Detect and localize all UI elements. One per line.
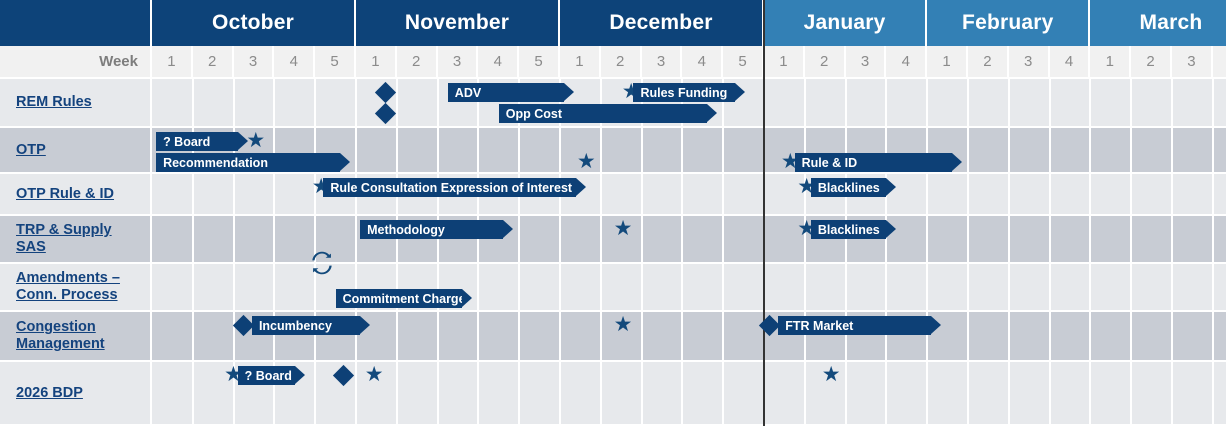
week-gridline (437, 79, 439, 426)
week-gridline (1212, 79, 1214, 426)
row-label-text: OTP (16, 142, 46, 159)
week-gridline (722, 79, 724, 426)
week-header-cell: 5 (519, 46, 560, 79)
star-milestone-icon[interactable]: ★ (576, 152, 596, 172)
star-milestone-icon[interactable]: ★ (821, 365, 841, 385)
row-label-congestion-management[interactable]: Congestion Management (0, 312, 152, 362)
row-label-rem-rules[interactable]: REM Rules (0, 79, 152, 128)
task-bar[interactable]: Methodology (360, 220, 503, 239)
star-milestone-icon[interactable]: ★ (613, 315, 633, 335)
week-header-cell: 4 (478, 46, 519, 79)
week-gridline (518, 79, 520, 426)
month-header-february: February (927, 0, 1090, 46)
refresh-cycle-icon[interactable] (309, 250, 335, 276)
week-gridline (1049, 79, 1051, 426)
star-milestone-icon[interactable]: ★ (364, 365, 384, 385)
month-header-december: December (560, 0, 764, 46)
week-header-cell: 1 (560, 46, 601, 79)
task-bar[interactable]: Rule & ID (795, 153, 952, 172)
row-label-2026-bdp[interactable]: 2026 BDP (0, 362, 152, 426)
week-header-cell: 1 (356, 46, 397, 79)
row-label-otp[interactable]: OTP (0, 128, 152, 174)
week-header-cell: 2 (397, 46, 438, 79)
week-gridline (1008, 79, 1010, 426)
row-label-text: OTP Rule & ID (16, 186, 114, 203)
today-divider-line (763, 0, 765, 426)
week-header-cell: 3 (438, 46, 479, 79)
week-row-label: Week (0, 46, 152, 79)
week-gridline (967, 79, 969, 426)
row-label-amendments-conn-process[interactable]: Amendments – Conn. Process (0, 264, 152, 312)
week-header-cell: 2 (193, 46, 234, 79)
week-header-cell: 1 (764, 46, 805, 79)
month-header-january: January (764, 0, 927, 46)
week-gridline (559, 79, 561, 426)
week-header-cell: 2 (968, 46, 1009, 79)
gantt-chart: October12345November12345December12345Ja… (0, 0, 1226, 426)
week-header-cell: 2 (805, 46, 846, 79)
row-label-otp-rule-id[interactable]: OTP Rule & ID (0, 174, 152, 216)
month-header-november: November (356, 0, 560, 46)
week-header-cell: 4 (682, 46, 723, 79)
header-corner (0, 0, 152, 46)
task-row-band (152, 362, 1226, 426)
star-milestone-icon[interactable]: ★ (613, 219, 633, 239)
week-gridline (885, 79, 887, 426)
week-header-cell: 1 (1090, 46, 1131, 79)
month-header-march: March (1090, 0, 1226, 46)
task-bar[interactable]: FTR Market (778, 316, 931, 335)
task-bar[interactable]: Rule Consultation Expression of Interest (323, 178, 576, 197)
row-label-text: Congestion Management (16, 319, 144, 353)
week-gridline (600, 79, 602, 426)
week-gridline (396, 79, 398, 426)
week-header-cell: 5 (723, 46, 764, 79)
task-bar[interactable]: Recommendation (156, 153, 340, 172)
week-header-cell: 4 (886, 46, 927, 79)
row-label-text: REM Rules (16, 94, 92, 111)
row-label-trp-supply-sas[interactable]: TRP & Supply SAS (0, 216, 152, 264)
week-header-cell: 1 (152, 46, 193, 79)
week-gridline (1089, 79, 1091, 426)
task-bar[interactable]: Opp Cost (499, 104, 707, 123)
star-milestone-icon[interactable]: ★ (246, 131, 266, 151)
week-header-cell: 5 (315, 46, 356, 79)
week-gridline (1171, 79, 1173, 426)
week-header-cell: 2 (1131, 46, 1172, 79)
week-header-cell: 4 (1213, 46, 1226, 79)
week-header-cell: 3 (642, 46, 683, 79)
task-bar[interactable]: ? Board (156, 132, 238, 151)
row-label-text: Amendments – Conn. Process (16, 270, 144, 304)
week-header-cell: 2 (601, 46, 642, 79)
task-bar[interactable]: Blacklines (811, 178, 886, 197)
month-header-october: October (152, 0, 356, 46)
task-bar[interactable]: Incumbency (252, 316, 360, 335)
task-bar[interactable]: Commitment Charge (336, 289, 462, 308)
row-label-text: TRP & Supply SAS (16, 222, 144, 256)
week-gridline (641, 79, 643, 426)
week-gridline (926, 79, 928, 426)
week-header-cell: 3 (234, 46, 275, 79)
task-bar[interactable]: Rules Funding (633, 83, 735, 102)
task-bar[interactable]: Blacklines (811, 220, 886, 239)
week-header-cell: 4 (1050, 46, 1091, 79)
task-bar[interactable]: ? Board (238, 366, 295, 385)
week-gridline (477, 79, 479, 426)
week-header-cell: 4 (274, 46, 315, 79)
week-header-cell: 3 (846, 46, 887, 79)
row-label-text: 2026 BDP (16, 385, 83, 402)
week-gridline (1130, 79, 1132, 426)
week-gridline (804, 79, 806, 426)
week-gridline (355, 79, 357, 426)
task-bar[interactable]: ADV (448, 83, 564, 102)
week-gridline (681, 79, 683, 426)
week-gridline (845, 79, 847, 426)
week-header-cell: 1 (927, 46, 968, 79)
week-header-cell: 3 (1172, 46, 1213, 79)
week-header-cell: 3 (1009, 46, 1050, 79)
